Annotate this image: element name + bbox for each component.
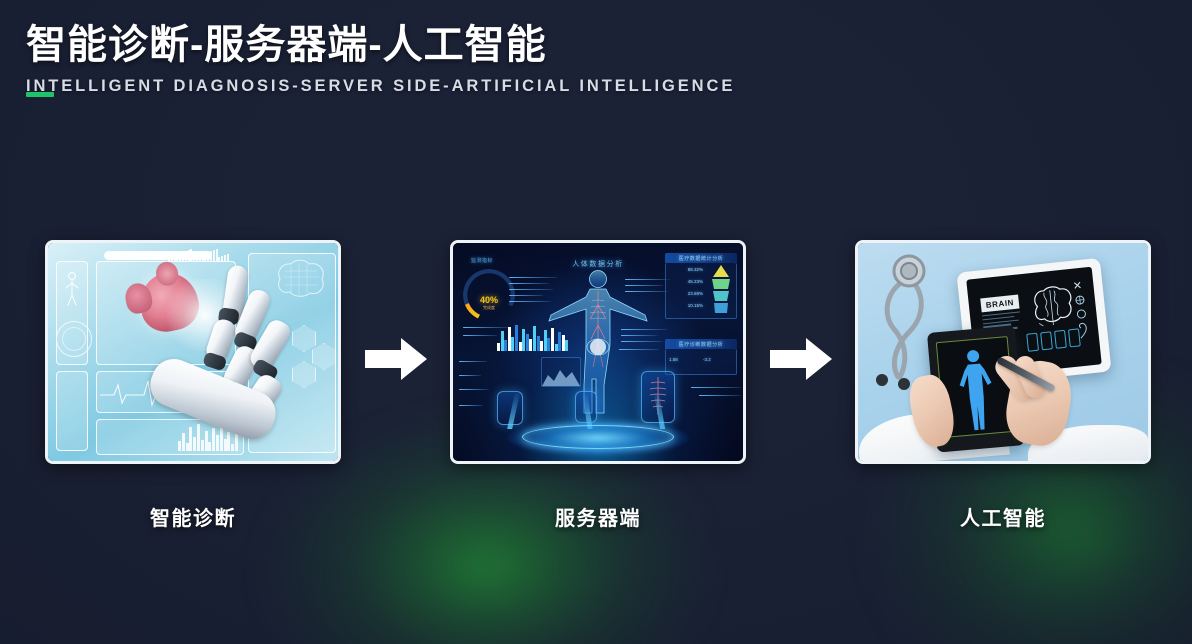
holo-platform-ring xyxy=(522,425,674,449)
hud-tick xyxy=(193,257,195,261)
step-2-caption: 服务器端 xyxy=(450,502,746,531)
gauge-label: 监测指标 xyxy=(471,257,493,264)
tablet-side-symbols xyxy=(1070,293,1093,341)
dashboard-bar xyxy=(540,341,543,351)
page-header: 智能诊断-服务器端-人工智能 INTELLIGENT DIAGNOSIS-SER… xyxy=(26,22,735,96)
step-2-illustration: 人体数据分析 监测指标 40% 完成度 xyxy=(453,243,743,461)
gauge-value: 40% xyxy=(472,295,506,305)
hud-tick xyxy=(196,256,198,261)
flow-step-server-side[interactable]: 人体数据分析 监测指标 40% 完成度 xyxy=(450,240,746,531)
step-1-illustration xyxy=(48,243,338,461)
dashboard-bar xyxy=(526,334,529,351)
hud-tick xyxy=(199,255,201,261)
holographic-human-body xyxy=(546,267,650,417)
dashboard-bar xyxy=(497,343,500,351)
hud-tick xyxy=(190,249,192,261)
scan-block xyxy=(1054,330,1067,349)
gauge-sublabel: 完成度 xyxy=(472,305,506,311)
step-1-image-frame xyxy=(45,240,341,464)
hud-tick xyxy=(171,256,173,261)
dashboard-bar xyxy=(519,342,522,351)
hud-tick xyxy=(207,252,209,261)
compare-value-1: 1.58 xyxy=(669,357,693,362)
compare-panel-header: 医疗诊断数据分析 xyxy=(665,339,737,349)
scan-block xyxy=(1026,333,1039,352)
step-3-illustration: BRAIN ✕ xyxy=(858,243,1148,461)
flow-step-artificial-intelligence[interactable]: BRAIN ✕ xyxy=(855,240,1151,531)
compare-value-2: -3.2 xyxy=(703,357,731,362)
brain-label: BRAIN xyxy=(980,295,1019,313)
dashboard-bar xyxy=(508,327,511,351)
page-title-en: INTELLIGENT DIAGNOSIS-SERVER SIDE-ARTIFI… xyxy=(26,77,735,96)
hud-left-panel-bottom xyxy=(56,371,88,451)
hud-tick xyxy=(168,257,170,261)
hud-tick xyxy=(182,252,184,261)
hud-tick xyxy=(188,250,190,261)
title-accent-bar xyxy=(26,92,54,97)
hud-tick xyxy=(174,255,176,261)
scan-block xyxy=(1040,331,1053,350)
human-figure-icon xyxy=(954,347,997,436)
hud-radar-inner xyxy=(62,327,86,351)
close-icon[interactable]: ✕ xyxy=(1071,280,1084,293)
step-1-caption: 智能诊断 xyxy=(45,502,341,531)
hud-tick xyxy=(185,251,187,261)
hud-tick xyxy=(213,250,215,261)
funnel-chart xyxy=(707,265,735,315)
step-2-image-frame: 人体数据分析 监测指标 40% 完成度 xyxy=(450,240,746,464)
process-flow: 智能诊断 人体数据分析 监测指标 40% 完成度 xyxy=(0,240,1192,540)
funnel-value-3: 23.69% xyxy=(669,291,703,296)
brain-icon xyxy=(1025,283,1077,328)
step-3-image-frame: BRAIN ✕ xyxy=(855,240,1151,464)
hud-tick xyxy=(179,253,181,261)
arrow-right-icon-2 xyxy=(770,338,832,380)
dashboard-bar xyxy=(504,340,507,351)
hud-tick xyxy=(202,254,204,261)
dashboard-bar xyxy=(501,331,504,351)
compare-panel-body xyxy=(665,349,737,375)
page-title-cn: 智能诊断-服务器端-人工智能 xyxy=(26,22,735,69)
flow-step-intelligent-diagnosis[interactable]: 智能诊断 xyxy=(45,240,341,531)
dashboard-bar xyxy=(537,336,540,351)
person-icon xyxy=(62,271,82,307)
hud-tick xyxy=(210,251,212,261)
funnel-panel-header: 医疗数据统计分析 xyxy=(665,253,737,263)
funnel-value-4: 10.15% xyxy=(669,303,703,308)
dashboard-bar xyxy=(511,337,514,351)
arrow-right-icon-1 xyxy=(365,338,427,380)
dashboard-bar xyxy=(533,326,536,351)
step-3-caption: 人工智能 xyxy=(855,502,1151,531)
dashboard-bar xyxy=(529,339,532,351)
funnel-value-1: 88.32% xyxy=(669,267,703,272)
dashboard-bar xyxy=(515,325,518,351)
dashboard-bar xyxy=(522,329,525,351)
hud-tick xyxy=(204,253,206,261)
hud-tick xyxy=(176,254,178,261)
funnel-value-2: 45.23% xyxy=(669,279,703,284)
